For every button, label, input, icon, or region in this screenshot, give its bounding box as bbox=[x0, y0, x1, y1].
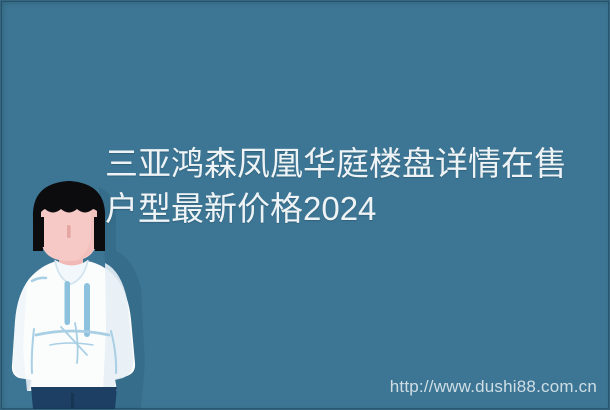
watermark-url: http://www.dushi88.com.cn bbox=[390, 377, 597, 397]
cover-card: 三亚鸿森凤凰华庭楼盘详情在售户型最新价格2024 http://www.dush… bbox=[0, 0, 610, 410]
nose-mark bbox=[67, 225, 71, 238]
page-title: 三亚鸿森凤凰华庭楼盘详情在售户型最新价格2024 bbox=[105, 141, 585, 231]
pants bbox=[31, 387, 117, 409]
